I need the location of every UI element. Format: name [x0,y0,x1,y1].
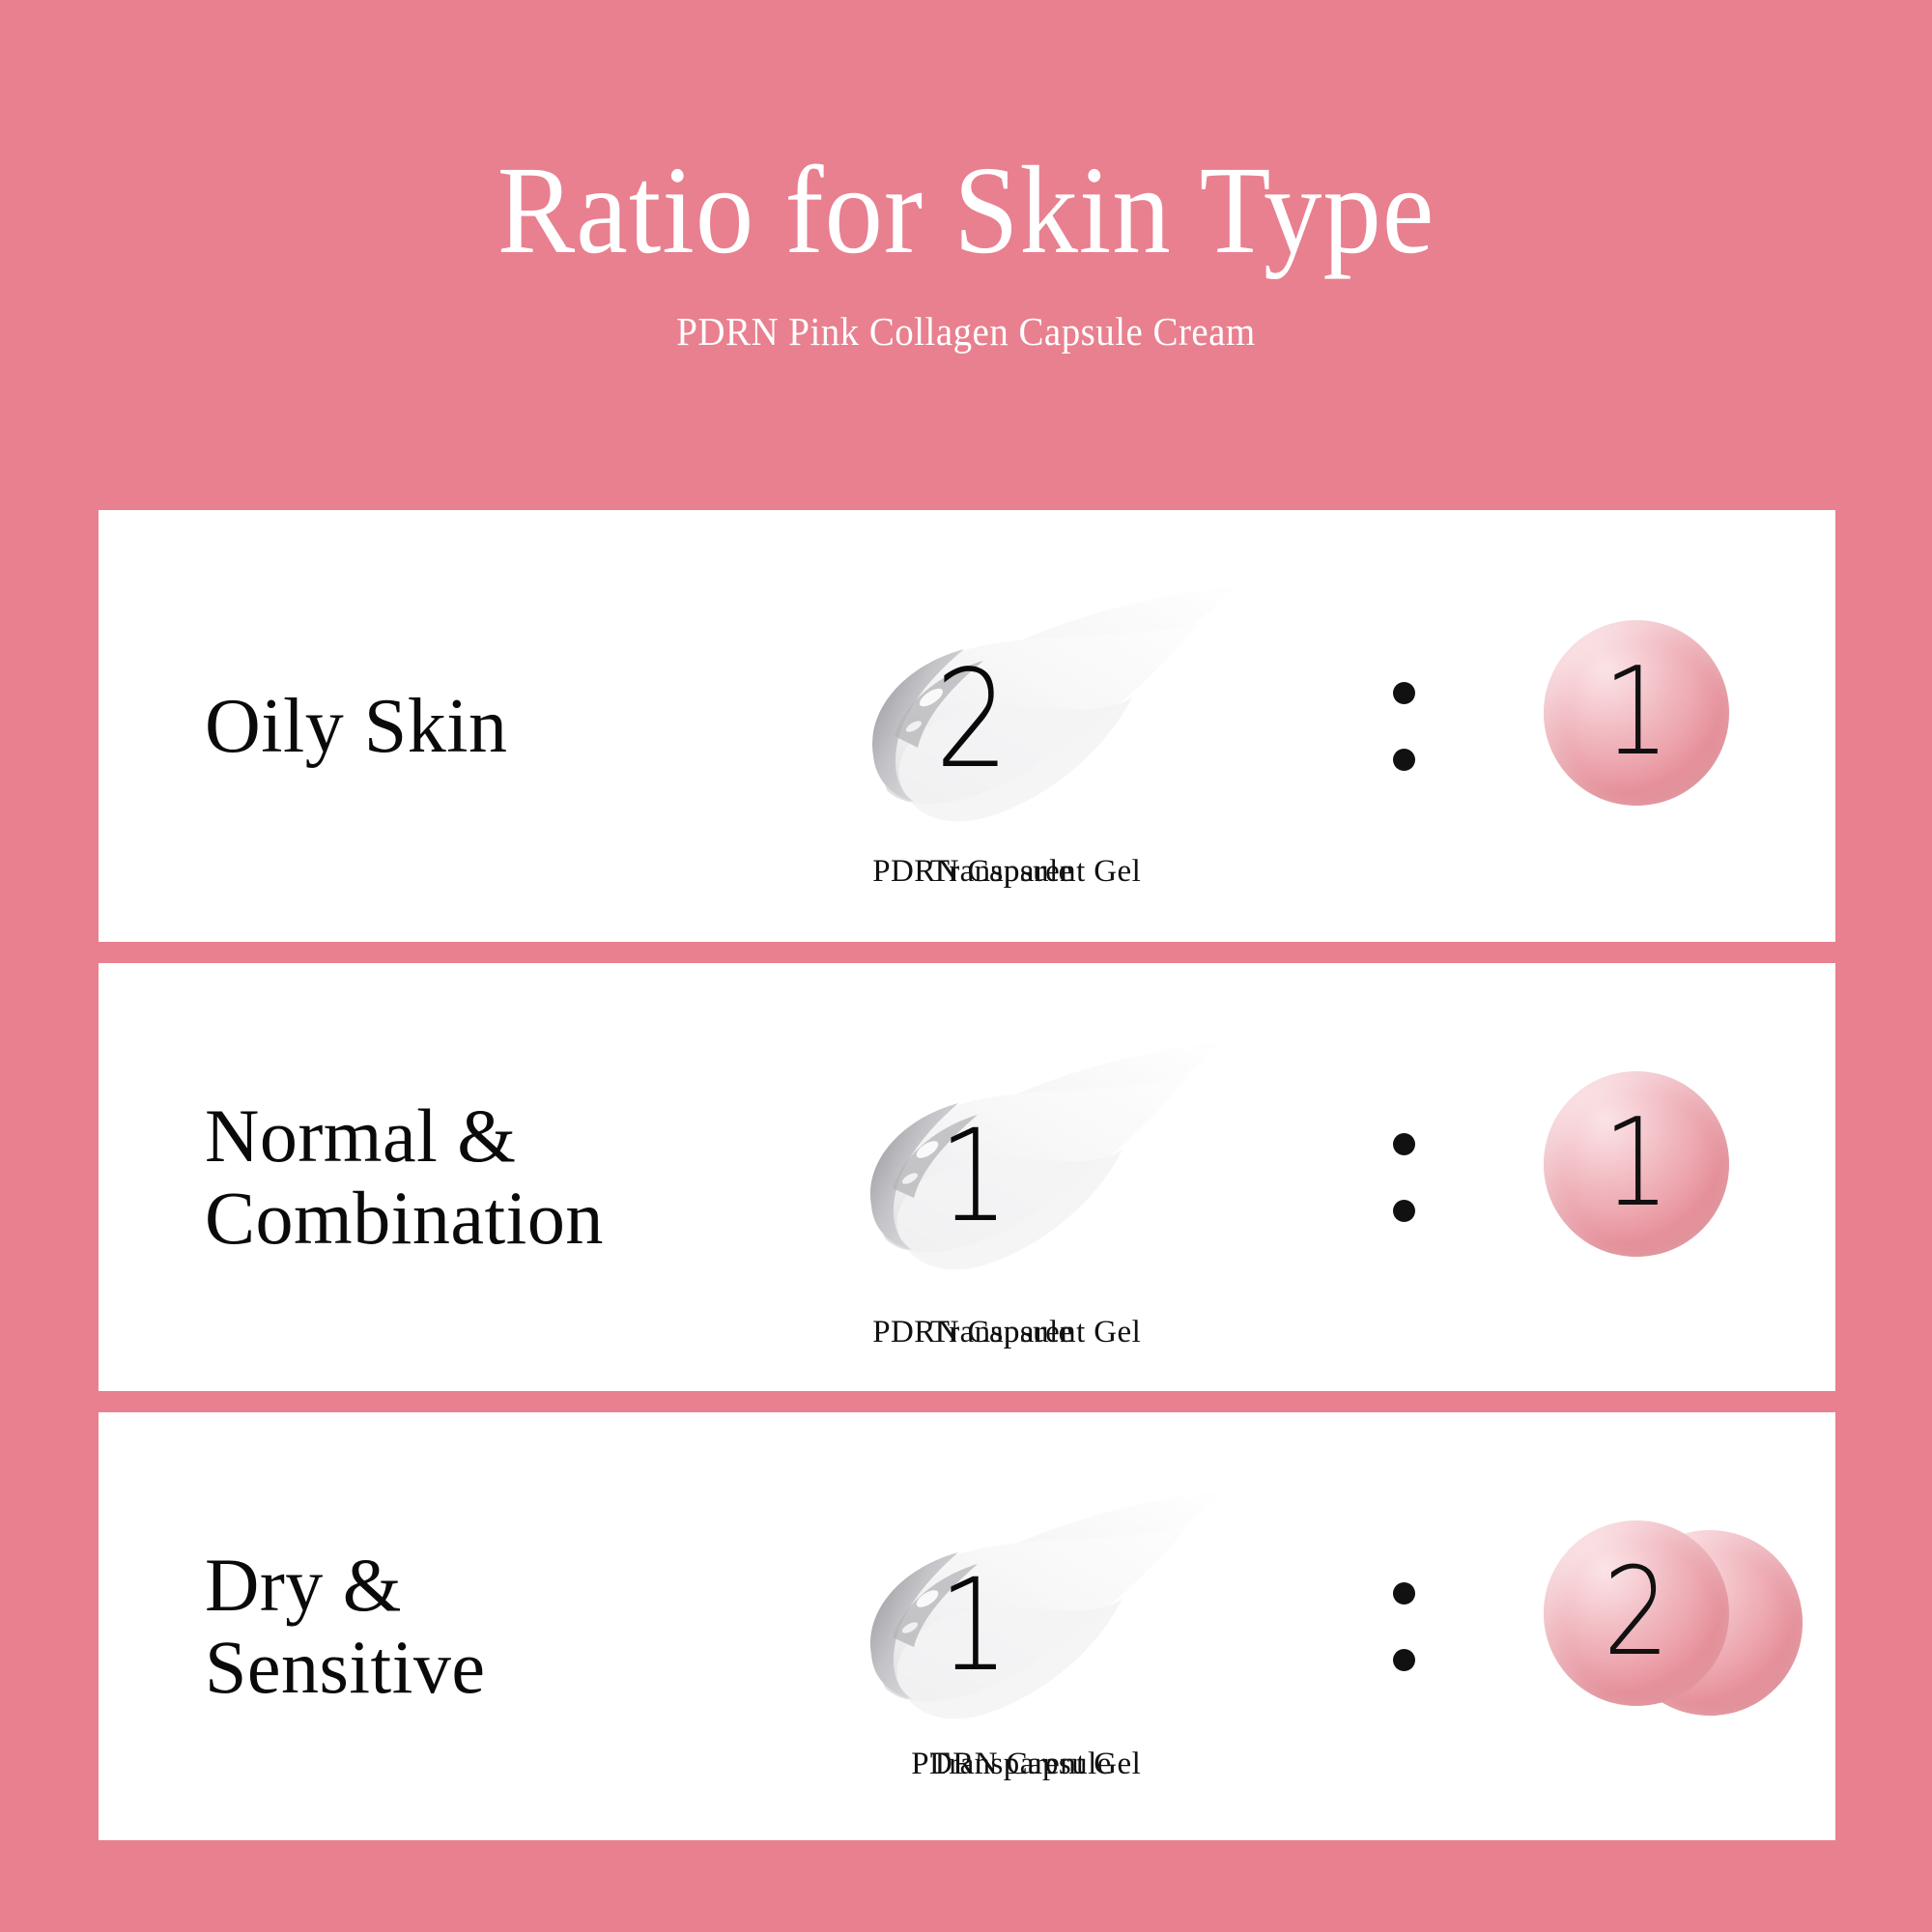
gel-smear-icon [813,1487,1238,1767]
colon-dot-top [1393,1133,1415,1155]
capsule-caption: PDRN Capsule [780,854,1166,890]
page-header: Ratio for Skin Type PDRN Pink Collagen C… [0,0,1932,355]
gel-ratio-number: 1 [939,1562,1009,1690]
capsule-ratio-number: 2 [1556,1551,1716,1673]
pdrn-capsule-group: 1 [1499,1033,1818,1322]
gel-smear-icon [813,1037,1238,1318]
ratio-separator-colon [1393,1133,1422,1222]
capsule-caption: PDRN Capsule [818,1747,1205,1782]
capsule-ratio-number: 1 [1556,1102,1716,1224]
ratio-card-oily-skin[interactable]: Oily Skin [99,510,1835,942]
ratio-display: 1 Transparent Gel 1 PDRN Capsule [813,963,1835,1391]
ratio-display: 2 Transparent Gel 1 PDRN Capsule [813,510,1835,942]
skin-type-label: Dry & Sensitive [205,1544,486,1710]
ratio-card-dry-sensitive[interactable]: Dry & Sensitive [99,1412,1835,1840]
transparent-gel-swatch: 2 [813,582,1267,871]
colon-dot-bottom [1393,1200,1415,1222]
ratio-display: 1 Transparent Gel 2 PDRN Capsule [813,1412,1835,1840]
ratio-card-list: Oily Skin [99,510,1835,1840]
gel-ratio-number: 2 [935,653,1009,788]
pdrn-capsule-group: 1 [1499,582,1818,871]
ratio-card-normal-combination[interactable]: Normal & Combination [99,963,1835,1391]
transparent-gel-swatch: 1 [813,1037,1238,1318]
page-subtitle: PDRN Pink Collagen Capsule Cream [48,308,1884,355]
gel-ratio-number: 1 [939,1113,1009,1240]
colon-dot-top [1393,1582,1415,1605]
capsule-ratio-number: 1 [1556,651,1716,773]
colon-dot-bottom [1393,749,1415,771]
pdrn-capsule-group: 2 [1499,1482,1818,1772]
colon-dot-bottom [1393,1649,1415,1671]
colon-dot-top [1393,682,1415,704]
capsule-caption: PDRN Capsule [780,1315,1166,1350]
ratio-separator-colon [1393,1582,1422,1671]
page-title: Ratio for Skin Type [68,147,1864,275]
skin-type-label: Normal & Combination [205,1094,604,1261]
gel-smear-icon [813,582,1267,871]
transparent-gel-swatch: 1 [813,1487,1238,1767]
ratio-separator-colon [1393,682,1422,771]
skin-type-label: Oily Skin [205,684,507,769]
